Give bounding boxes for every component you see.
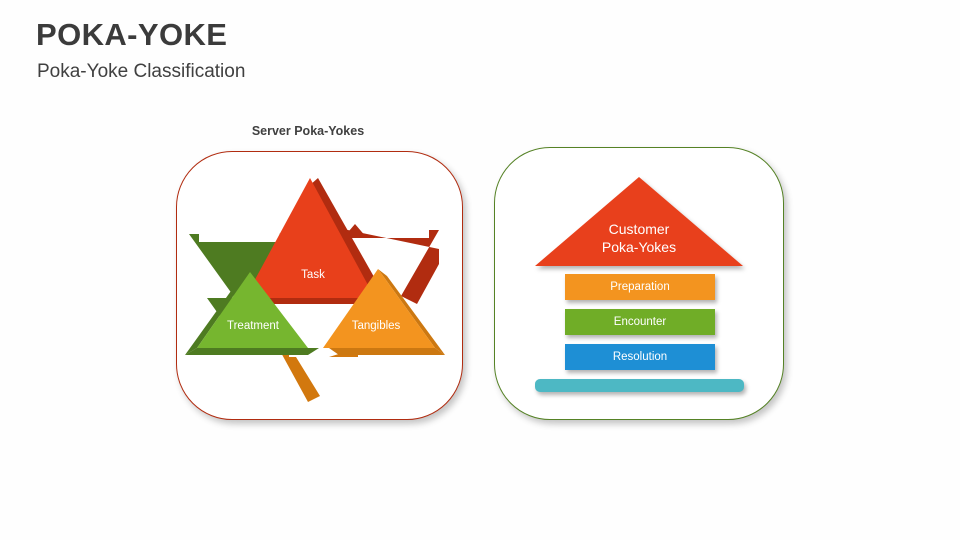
slide-canvas: POKA-YOKE Poka-Yoke Classification Serve…: [0, 0, 960, 540]
triangle-task[interactable]: [245, 178, 386, 304]
server-cycle-diagram: [177, 152, 462, 419]
pyramid-base-bar[interactable]: [535, 379, 744, 392]
level-bar-resolution-label: Resolution: [565, 351, 715, 363]
customer-poka-yokes-panel[interactable]: Customer Poka-Yokes Preparation Encounte…: [494, 147, 784, 420]
level-bar-resolution[interactable]: Resolution: [565, 344, 715, 370]
server-poka-yokes-panel[interactable]: Task Treatment Tangibles: [176, 151, 463, 420]
level-bar-encounter[interactable]: Encounter: [565, 309, 715, 335]
page-title: POKA-YOKE: [36, 17, 227, 53]
level-bar-encounter-label: Encounter: [565, 316, 715, 328]
level-bar-preparation-label: Preparation: [565, 281, 715, 293]
triangle-customer-poka-yokes[interactable]: [535, 177, 743, 266]
arrow-orange-icon: [279, 348, 358, 402]
page-subtitle: Poka-Yoke Classification: [37, 61, 245, 83]
left-panel-caption: Server Poka-Yokes: [180, 124, 436, 138]
level-bar-preparation[interactable]: Preparation: [565, 274, 715, 300]
